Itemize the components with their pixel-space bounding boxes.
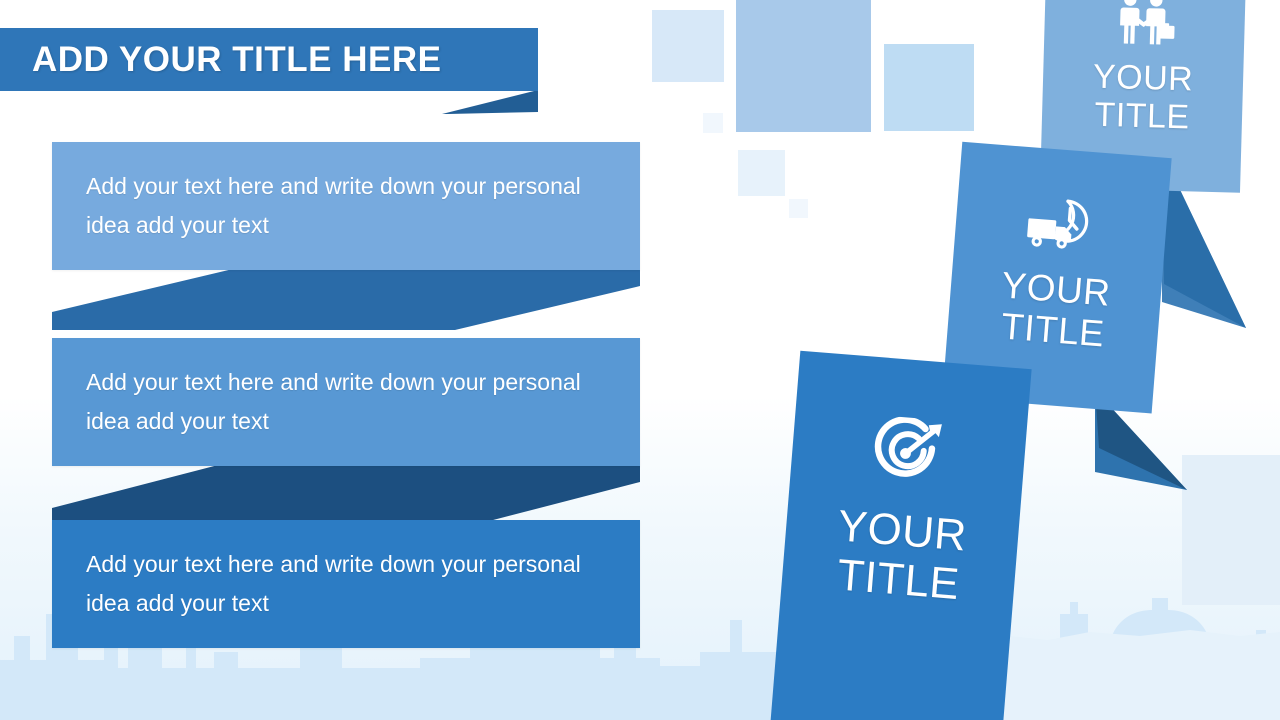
feature-panel-3-title: YOUR TITLE	[832, 501, 969, 610]
feature-panel-3[interactable]: YOUR TITLE	[771, 351, 1032, 720]
content-band-3-text: Add your text here and write down your p…	[52, 545, 640, 622]
page-title-text: ADD YOUR TITLE HERE	[0, 40, 441, 80]
decor-square-3	[884, 44, 974, 131]
content-band-3[interactable]: Add your text here and write down your p…	[52, 520, 640, 648]
page-title: ADD YOUR TITLE HERE	[0, 28, 538, 91]
decor-square-2	[736, 0, 871, 132]
content-band-2-text: Add your text here and write down your p…	[52, 363, 640, 440]
delivery-truck-clock-icon	[1023, 193, 1100, 261]
title-banner-fold	[442, 90, 538, 114]
decor-square-6	[789, 199, 808, 218]
decor-square-1	[652, 10, 724, 82]
decor-square-4	[703, 113, 723, 133]
feature-panel-1-title: YOUR TITLE	[1091, 58, 1193, 137]
handshake-partnership-icon	[1113, 0, 1177, 54]
decor-square-5	[738, 150, 785, 196]
feature-panel-2-title: YOUR TITLE	[997, 264, 1112, 355]
band-fold-connector-1	[52, 268, 640, 330]
content-band-2[interactable]: Add your text here and write down your p…	[52, 338, 640, 466]
content-band-1-text: Add your text here and write down your p…	[52, 167, 640, 244]
band-fold-connector-2	[52, 464, 640, 526]
target-dartboard-arrow-icon	[868, 415, 948, 496]
content-band-1[interactable]: Add your text here and write down your p…	[52, 142, 640, 270]
slide-canvas: ADD YOUR TITLE HERE Add your text here a…	[0, 0, 1280, 720]
